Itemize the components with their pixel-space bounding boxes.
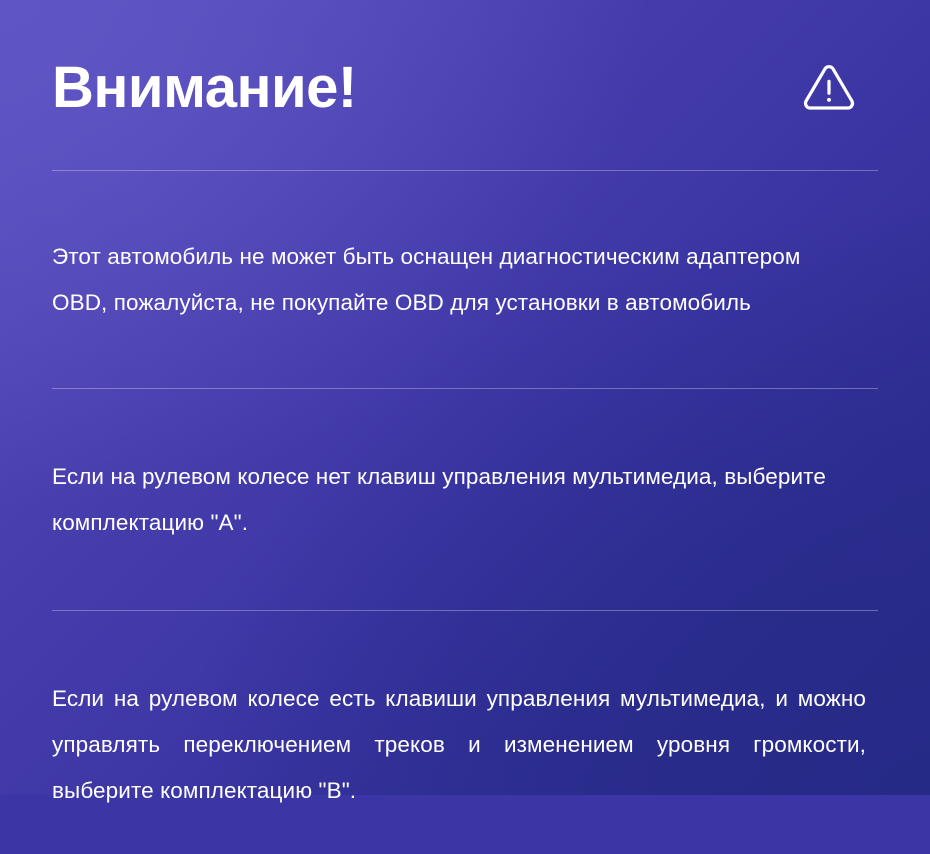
section-trim-b-notice: Если на рулевом колесе есть клавиши упра… (52, 634, 878, 854)
panel-header: Внимание! (52, 0, 878, 170)
divider-top (52, 170, 878, 171)
page-title: Внимание! (52, 59, 357, 117)
warning-panel: Внимание! Этот автомобиль не может быть … (0, 0, 930, 795)
section-obd-notice: Этот автомобиль не может быть оснащен ди… (52, 194, 878, 366)
divider-bottom (52, 610, 878, 611)
warning-triangle-icon (802, 61, 856, 115)
section-trim-a-notice: Если на рулевом колесе нет клавиш управл… (52, 412, 878, 588)
divider-middle (52, 388, 878, 389)
